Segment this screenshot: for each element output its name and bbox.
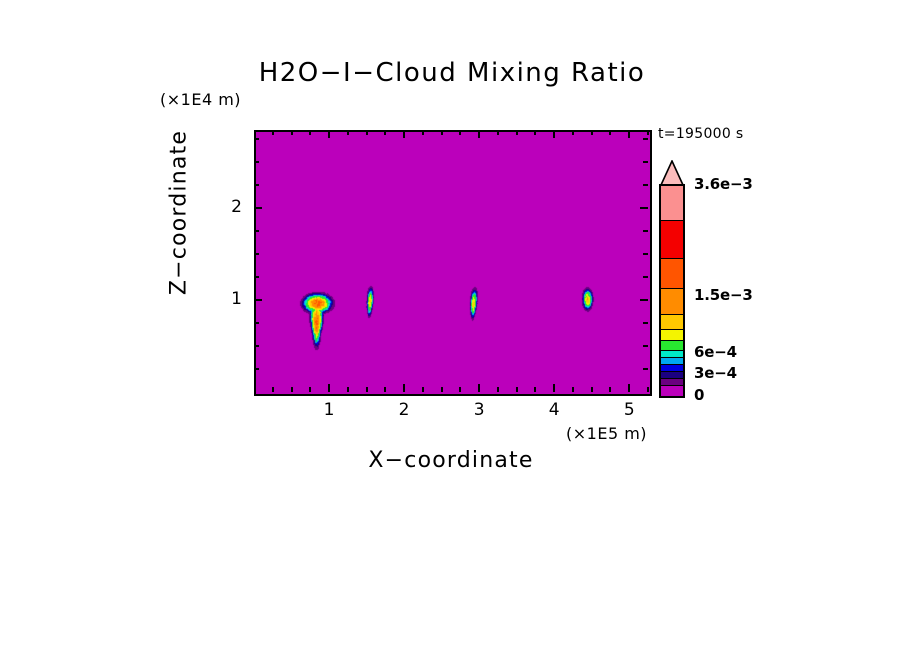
x-tick-bottom: [553, 384, 555, 392]
x-tick-top: [384, 130, 386, 135]
colorbar-band-divider: [661, 329, 683, 330]
x-tick-top: [628, 130, 630, 138]
x-tick-label: 4: [539, 400, 569, 420]
y-tick-right: [643, 230, 648, 232]
y-tick-left: [254, 345, 259, 347]
x-tick-top: [572, 130, 574, 135]
timestamp-label: t=195000 s: [658, 126, 743, 142]
plot-area: [254, 130, 652, 396]
colorbar-band: [661, 289, 683, 315]
y-tick-left: [254, 276, 259, 278]
x-tick-top: [347, 130, 349, 135]
y-tick-left: [254, 368, 259, 370]
colorbar-band-divider: [661, 220, 683, 221]
x-tick-top: [534, 130, 536, 135]
y-tick-right: [643, 138, 648, 140]
x-tick-bottom: [366, 387, 368, 392]
x-tick-top: [553, 130, 555, 138]
x-tick-bottom: [384, 387, 386, 392]
colorbar-band: [661, 184, 683, 221]
y-tick-left: [254, 161, 259, 163]
colorbar-band: [661, 315, 683, 330]
colorbar-band-divider: [661, 378, 683, 379]
colorbar-band-divider: [661, 371, 683, 372]
x-tick-top: [328, 130, 330, 138]
colorbar: [659, 184, 685, 398]
y-tick-right: [643, 276, 648, 278]
colorbar-tick-label: 3e−4: [694, 364, 737, 382]
x-tick-bottom: [328, 384, 330, 392]
y-axis-title: Z−coordinate: [167, 16, 192, 410]
x-tick-top: [309, 130, 311, 135]
colorbar-band: [661, 259, 683, 289]
colorbar-overflow-arrow-icon: [659, 160, 685, 186]
x-tick-bottom: [291, 387, 293, 392]
x-axis-multiplier-label: (×1E5 m): [566, 424, 647, 443]
y-tick-left: [254, 253, 259, 255]
colorbar-band-divider: [661, 314, 683, 315]
x-tick-top: [478, 130, 480, 138]
y-tick-right: [640, 299, 648, 301]
x-tick-bottom: [591, 387, 593, 392]
x-tick-top: [291, 130, 293, 135]
x-tick-top: [272, 130, 274, 135]
y-tick-left: [254, 138, 259, 140]
y-tick-right: [643, 184, 648, 186]
x-tick-bottom: [534, 387, 536, 392]
y-tick-right: [643, 253, 648, 255]
y-tick-left: [254, 207, 262, 209]
figure-canvas: H2O−I−Cloud Mixing Ratio (×1E4 m) (×1E5 …: [0, 0, 904, 654]
x-tick-top: [516, 130, 518, 135]
x-tick-bottom: [272, 387, 274, 392]
colorbar-band-divider: [661, 364, 683, 365]
colorbar-band-divider: [661, 350, 683, 351]
x-tick-top: [497, 130, 499, 135]
x-tick-label: 2: [389, 400, 419, 420]
colorbar-band-divider: [661, 288, 683, 289]
y-tick-right: [643, 322, 648, 324]
x-tick-top: [366, 130, 368, 135]
contour-field: [256, 132, 650, 394]
x-tick-label: 5: [614, 400, 644, 420]
colorbar-band-divider: [661, 340, 683, 341]
y-tick-right: [640, 207, 648, 209]
colorbar-band: [661, 221, 683, 259]
x-tick-bottom: [609, 387, 611, 392]
x-tick-bottom: [347, 387, 349, 392]
colorbar-band-divider: [661, 258, 683, 259]
x-tick-bottom: [497, 387, 499, 392]
colorbar-tick-label: 0: [694, 386, 704, 404]
y-tick-right: [643, 345, 648, 347]
y-tick-label: 1: [212, 289, 242, 309]
y-tick-left: [254, 230, 259, 232]
x-tick-top: [591, 130, 593, 135]
x-tick-bottom: [516, 387, 518, 392]
colorbar-tick-label: 1.5e−3: [694, 286, 753, 304]
colorbar-band: [661, 386, 683, 396]
x-tick-bottom: [478, 384, 480, 392]
colorbar-band-divider: [661, 385, 683, 386]
colorbar-band-divider: [661, 357, 683, 358]
x-tick-bottom: [459, 387, 461, 392]
x-tick-top: [403, 130, 405, 138]
y-tick-left: [254, 184, 259, 186]
x-axis-title: X−coordinate: [254, 448, 648, 473]
y-tick-label: 2: [212, 197, 242, 217]
x-tick-top: [609, 130, 611, 135]
x-tick-bottom: [572, 387, 574, 392]
page-title: H2O−I−Cloud Mixing Ratio: [0, 58, 904, 88]
x-tick-top: [647, 130, 649, 135]
y-tick-left: [254, 299, 262, 301]
x-tick-top: [459, 130, 461, 135]
x-tick-bottom: [628, 384, 630, 392]
x-tick-top: [422, 130, 424, 135]
x-tick-top: [441, 130, 443, 135]
colorbar-tick-label: 6e−4: [694, 343, 737, 361]
colorbar-tick-label: 3.6e−3: [694, 175, 753, 193]
x-tick-label: 3: [464, 400, 494, 420]
x-tick-bottom: [309, 387, 311, 392]
x-tick-label: 1: [314, 400, 344, 420]
y-tick-right: [643, 161, 648, 163]
y-tick-left: [254, 322, 259, 324]
x-tick-bottom: [403, 384, 405, 392]
x-tick-bottom: [647, 387, 649, 392]
x-tick-bottom: [422, 387, 424, 392]
x-tick-bottom: [441, 387, 443, 392]
y-tick-right: [643, 368, 648, 370]
